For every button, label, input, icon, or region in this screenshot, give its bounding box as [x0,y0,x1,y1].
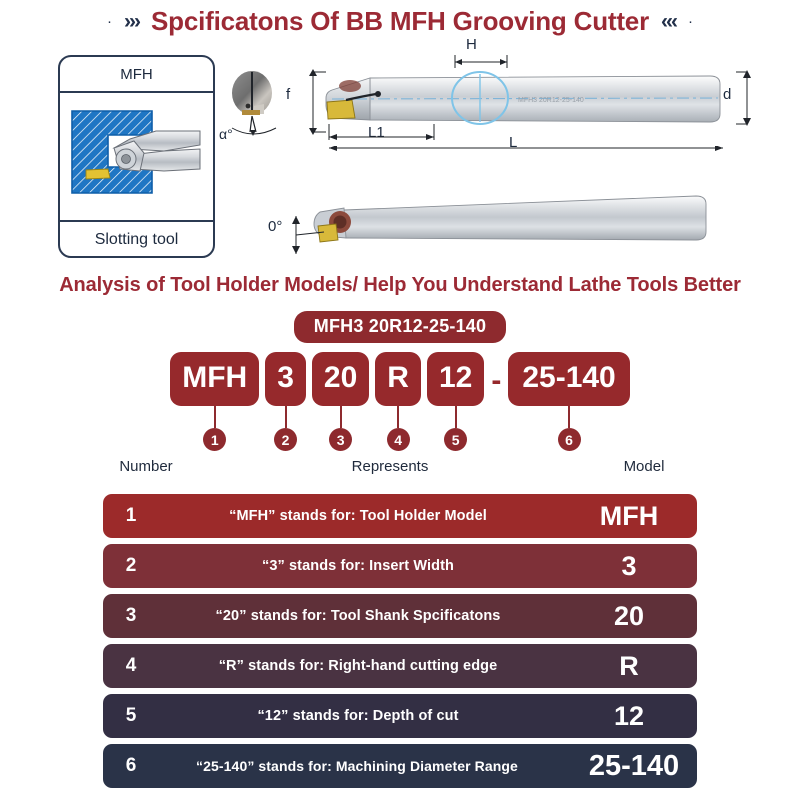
column-header-represents: Represents [192,458,588,475]
code-segment-number: 2 [274,428,297,451]
code-segment-label: MFH [170,352,259,406]
d-dimension-label: d [723,86,731,103]
table-row: 3“20” stands for: Tool Shank Spcificaton… [103,594,697,638]
code-segment: 203 [312,352,369,451]
row-number: 3 [103,605,159,627]
d-dimension-line [736,68,758,130]
code-segment-connector [285,406,287,428]
code-segment: MFH1 [170,352,259,451]
code-segment: 125 [427,352,484,451]
code-segment-label: 3 [265,352,306,406]
row-model-value: 3 [561,553,697,580]
alpha-angle-label: α° [219,126,233,142]
row-number: 6 [103,755,159,777]
code-breakdown: MFH132203R4125-25-1406 [0,352,800,451]
angle-detail-view [222,66,292,156]
table-body: 1“MFH” stands for: Tool Holder ModelMFH2… [103,494,697,794]
code-segment-number: 1 [203,428,226,451]
row-description: “3” stands for: Insert Width [159,558,561,574]
row-number: 1 [103,505,159,527]
code-segment-label: 12 [427,352,484,406]
card-footer-label: Slotting tool [60,220,213,258]
code-segment-number: 3 [329,428,352,451]
model-code-badge: MFH3 20R12-25-140 [294,311,506,343]
title-bar: · ››› Spcificatons Of BB MFH Grooving Cu… [0,6,800,37]
code-segment-connector [214,406,216,428]
tool-type-card: MFH [58,55,215,258]
table-row: 6“25-140” stands for: Machining Diameter… [103,744,697,788]
row-number: 4 [103,655,159,677]
row-model-value: 25-140 [559,752,709,781]
table-row: 5“12” stands for: Depth of cut12 [103,694,697,738]
column-header-model: Model [588,458,700,475]
column-header-number: Number [100,458,192,475]
model-badge-container: MFH3 20R12-25-140 [0,311,800,343]
row-description: “12” stands for: Depth of cut [159,708,561,724]
row-description: “20” stands for: Tool Shank Spcificatons [159,608,561,624]
chevron-left-icon: ‹‹‹ [661,11,676,32]
code-segment: R4 [375,352,421,451]
title-left-dot: · [107,14,112,29]
code-segment-label: 25-140 [508,352,629,406]
code-segment-dash: - [490,364,502,398]
card-header-label: MFH [60,57,213,93]
page-root: · ››› Spcificatons Of BB MFH Grooving Cu… [0,0,800,800]
h-dimension-label: H [466,36,477,53]
l1-dimension-line [326,124,438,142]
code-segment-connector [397,406,399,428]
table-row: 2“3” stands for: Insert Width3 [103,544,697,588]
code-segment: 25-1406 [508,352,629,451]
code-segment-number: 6 [558,428,581,451]
h-dimension-line [452,53,510,69]
row-description: “25-140” stands for: Machining Diameter … [159,758,559,774]
zero-angle-label: 0° [268,218,282,235]
table-header: Number Represents Model [100,458,700,475]
row-model-value: MFH [561,503,697,530]
zero-angle-line [286,212,326,260]
title-right-dot: · [688,14,693,29]
table-row: 4“R” stands for: Right-hand cutting edge… [103,644,697,688]
row-model-value: 12 [561,703,697,730]
slotting-tool-diagram [60,93,213,220]
l-dimension-line [326,146,726,160]
row-description: “R” stands for: Right-hand cutting edge [159,658,561,674]
code-segment: 32 [265,352,306,451]
row-model-value: 20 [561,603,697,630]
code-segment-label: R [375,352,421,406]
row-model-value: R [561,653,697,680]
svg-text:MFH3 20R12-25-140: MFH3 20R12-25-140 [518,97,584,104]
row-description: “MFH” stands for: Tool Holder Model [159,508,561,524]
boring-bar-zero-deg-view [300,190,720,258]
table-row: 1“MFH” stands for: Tool Holder ModelMFH [103,494,697,538]
page-title: Spcificatons Of BB MFH Grooving Cutter [151,6,649,37]
card-illustration [60,93,213,220]
code-segment-connector [455,406,457,428]
chevron-right-icon: ››› [124,11,139,32]
code-segment-connector [340,406,342,428]
subtitle: Analysis of Tool Holder Models/ Help You… [0,274,800,297]
code-segment-connector [568,406,570,428]
row-number: 2 [103,555,159,577]
code-segment-number: 5 [444,428,467,451]
code-segment-number: 4 [387,428,410,451]
row-number: 5 [103,705,159,727]
code-segment-label: 20 [312,352,369,406]
f-dimension-label: f [286,86,290,103]
